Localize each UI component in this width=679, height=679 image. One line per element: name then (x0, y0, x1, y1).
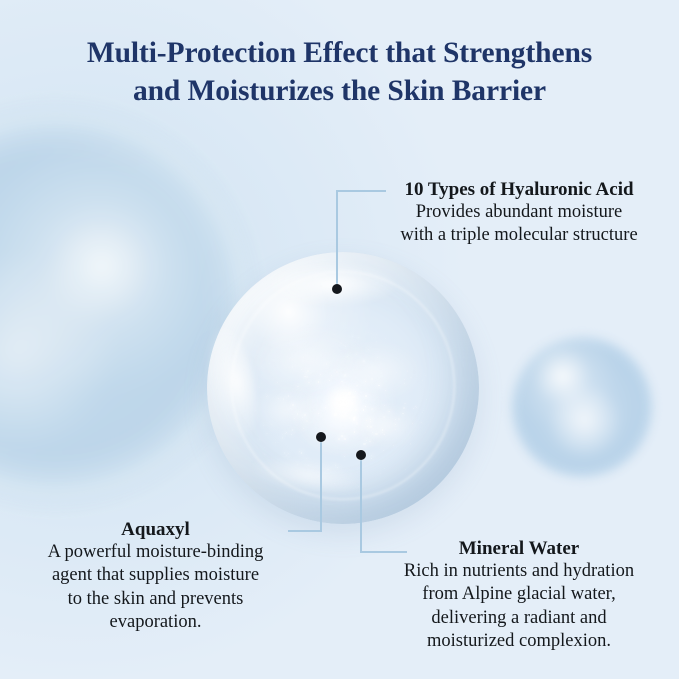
callout-aquaxyl-heading: Aquaxyl (0, 518, 311, 541)
callout-mineral-line-2: from Alpine glacial water, (359, 583, 679, 606)
connector-aquaxyl-vertical (320, 441, 322, 532)
aquaxyl-marker-dot (316, 432, 326, 442)
callout-aquaxyl-line-3: to the skin and prevents (0, 588, 311, 611)
callout-aquaxyl: Aquaxyl A powerful moisture-binding agen… (0, 518, 311, 634)
droplet-sparkle-particles (207, 252, 479, 524)
background-bubble-right-icon (512, 337, 652, 477)
callout-mineral-water: Mineral Water Rich in nutrients and hydr… (359, 537, 679, 653)
callout-mineral-line-4: moisturized complexion. (359, 630, 679, 653)
callout-mineral-heading: Mineral Water (359, 537, 679, 560)
page-title-line-1: Multi-Protection Effect that Strengthens (87, 37, 592, 69)
page-title: Multi-Protection Effect that Strengthens… (0, 34, 679, 111)
callout-hyaluronic-line-1: Provides abundant moisture (359, 201, 679, 224)
callout-mineral-line-3: delivering a radiant and (359, 607, 679, 630)
callout-aquaxyl-line-4: evaporation. (0, 611, 311, 634)
callout-mineral-line-1: Rich in nutrients and hydration (359, 560, 679, 583)
page-title-line-2: and Moisturizes the Skin Barrier (133, 75, 546, 107)
callout-hyaluronic-line-2: with a triple molecular structure (359, 224, 679, 247)
infographic-canvas: Multi-Protection Effect that Strengthens… (0, 0, 679, 679)
main-water-droplet-graphic (207, 252, 479, 524)
connector-hyaluronic-vertical (336, 190, 338, 290)
hyaluronic-acid-marker-dot (332, 284, 342, 294)
callout-hyaluronic-acid: 10 Types of Hyaluronic Acid Provides abu… (359, 178, 679, 248)
callout-aquaxyl-line-1: A powerful moisture-binding (0, 541, 311, 564)
callout-hyaluronic-heading: 10 Types of Hyaluronic Acid (359, 178, 679, 201)
mineral-water-marker-dot (356, 450, 366, 460)
callout-aquaxyl-line-2: agent that supplies moisture (0, 564, 311, 587)
